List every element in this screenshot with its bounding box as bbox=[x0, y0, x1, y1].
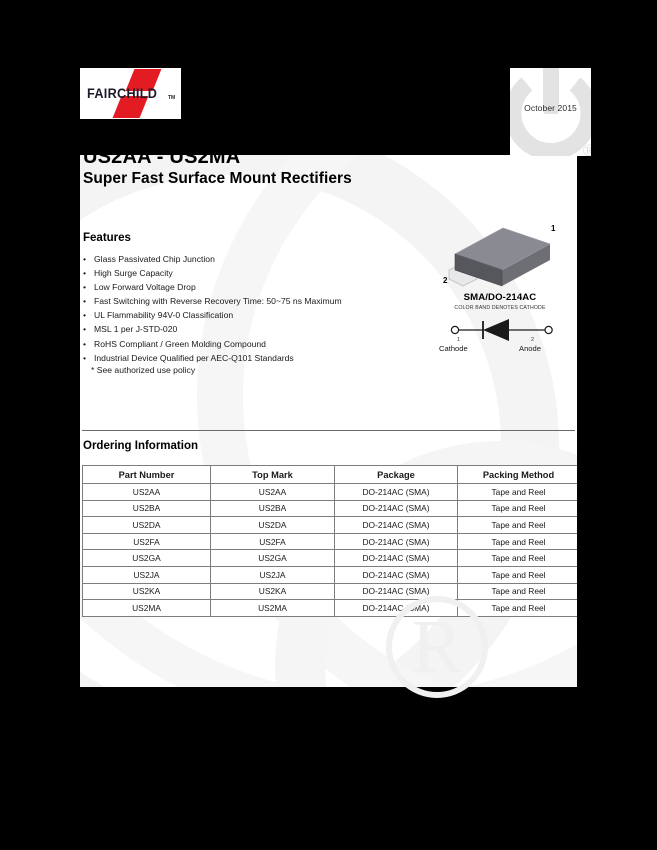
feature-text: Glass Passivated Chip Junction bbox=[94, 254, 215, 264]
cell-package: DO-214AC (SMA) bbox=[335, 583, 458, 600]
cell-packing: Tape and Reel bbox=[458, 533, 578, 550]
page-title: Super Fast Surface Mount Rectifiers bbox=[83, 170, 352, 188]
features-heading: Features bbox=[83, 232, 131, 244]
cell-part-number: US2JA bbox=[83, 566, 211, 583]
sma-package-3d-icon bbox=[425, 224, 575, 292]
diode-pin-2-number: 2 bbox=[531, 337, 534, 343]
cell-package: DO-214AC (SMA) bbox=[335, 533, 458, 550]
date-badge: ® October 2015 bbox=[510, 68, 591, 156]
package-diagram: 1 2 SMA/DO-214AC COLOR BAND DENOTES CATH… bbox=[425, 224, 575, 369]
bullet-icon: • bbox=[83, 252, 86, 266]
bullet-icon: • bbox=[83, 337, 86, 351]
cell-top-mark: US2GA bbox=[211, 550, 335, 567]
column-header-package: Package bbox=[335, 466, 458, 484]
bullet-icon: • bbox=[83, 294, 86, 308]
bullet-icon: • bbox=[83, 308, 86, 322]
bullet-icon: • bbox=[83, 351, 86, 365]
table-row: US2FA US2FA DO-214AC (SMA) Tape and Reel bbox=[83, 533, 578, 550]
cell-packing: Tape and Reel bbox=[458, 583, 578, 600]
column-header-part-number: Part Number bbox=[83, 466, 211, 484]
cell-packing: Tape and Reel bbox=[458, 550, 578, 567]
cell-part-number: US2MA bbox=[83, 600, 211, 617]
table-row: US2BA US2BA DO-214AC (SMA) Tape and Reel bbox=[83, 500, 578, 517]
cell-package: DO-214AC (SMA) bbox=[335, 484, 458, 501]
table-row: US2AA US2AA DO-214AC (SMA) Tape and Reel bbox=[83, 484, 578, 501]
table-row: US2MA US2MA DO-214AC (SMA) Tape and Reel bbox=[83, 600, 578, 617]
table-row: US2JA US2JA DO-214AC (SMA) Tape and Reel bbox=[83, 566, 578, 583]
datasheet-page: US2AA - US2MA Super Fast Surface Mount R… bbox=[80, 146, 577, 687]
list-item: •Industrial Device Qualified per AEC-Q10… bbox=[83, 351, 393, 365]
diode-pin-1-number: 1 bbox=[457, 337, 460, 343]
feature-text: Fast Switching with Reverse Recovery Tim… bbox=[94, 296, 342, 306]
section-divider bbox=[82, 430, 575, 431]
feature-text: MSL 1 per J-STD-020 bbox=[94, 324, 177, 334]
table-row: US2DA US2DA DO-214AC (SMA) Tape and Reel bbox=[83, 517, 578, 534]
logo-wordmark: FAIRCHILD bbox=[87, 86, 157, 101]
cell-top-mark: US2BA bbox=[211, 500, 335, 517]
cell-part-number: US2DA bbox=[83, 517, 211, 534]
features-list: •Glass Passivated Chip Junction •High Su… bbox=[83, 252, 393, 365]
svg-text:®: ® bbox=[583, 141, 591, 156]
diode-symbol-icon bbox=[447, 317, 557, 343]
header-band: FAIRCHILD TM ® October 2015 bbox=[0, 0, 657, 155]
table-row: US2KA US2KA DO-214AC (SMA) Tape and Reel bbox=[83, 583, 578, 600]
logo-trademark-icon: TM bbox=[168, 95, 175, 101]
cell-package: DO-214AC (SMA) bbox=[335, 566, 458, 583]
table-header-row: Part Number Top Mark Package Packing Met… bbox=[83, 466, 578, 484]
feature-text: RoHS Compliant / Green Molding Compound bbox=[94, 339, 266, 349]
cell-package: DO-214AC (SMA) bbox=[335, 517, 458, 534]
feature-text: UL Flammability 94V-0 Classification bbox=[94, 310, 233, 320]
bullet-icon: • bbox=[83, 322, 86, 336]
cell-part-number: US2AA bbox=[83, 484, 211, 501]
cell-packing: Tape and Reel bbox=[458, 566, 578, 583]
feature-text: Industrial Device Qualified per AEC-Q101… bbox=[94, 353, 294, 363]
cell-packing: Tape and Reel bbox=[458, 600, 578, 617]
features-footnote: * See authorized use policy bbox=[91, 365, 195, 375]
package-pin-1-label: 1 bbox=[551, 224, 555, 233]
list-item: •Glass Passivated Chip Junction bbox=[83, 252, 393, 266]
cell-top-mark: US2AA bbox=[211, 484, 335, 501]
package-note: COLOR BAND DENOTES CATHODE bbox=[425, 305, 575, 311]
list-item: •MSL 1 per J-STD-020 bbox=[83, 322, 393, 336]
cell-top-mark: US2JA bbox=[211, 566, 335, 583]
cell-package: DO-214AC (SMA) bbox=[335, 550, 458, 567]
cell-package: DO-214AC (SMA) bbox=[335, 600, 458, 617]
list-item: •RoHS Compliant / Green Molding Compound bbox=[83, 337, 393, 351]
cell-top-mark: US2MA bbox=[211, 600, 335, 617]
cell-packing: Tape and Reel bbox=[458, 484, 578, 501]
list-item: •Low Forward Voltage Drop bbox=[83, 280, 393, 294]
anode-label: Anode bbox=[519, 344, 541, 353]
cell-packing: Tape and Reel bbox=[458, 500, 578, 517]
cell-packing: Tape and Reel bbox=[458, 517, 578, 534]
package-name: SMA/DO-214AC bbox=[425, 292, 575, 303]
list-item: •Fast Switching with Reverse Recovery Ti… bbox=[83, 294, 393, 308]
column-header-packing-method: Packing Method bbox=[458, 466, 578, 484]
column-header-top-mark: Top Mark bbox=[211, 466, 335, 484]
cell-top-mark: US2DA bbox=[211, 517, 335, 534]
cathode-label: Cathode bbox=[439, 344, 468, 353]
cell-top-mark: US2KA bbox=[211, 583, 335, 600]
ordering-information-heading: Ordering Information bbox=[83, 440, 198, 452]
fairchild-logo: FAIRCHILD TM bbox=[80, 68, 181, 119]
cell-part-number: US2FA bbox=[83, 533, 211, 550]
feature-text: High Surge Capacity bbox=[94, 268, 173, 278]
bullet-icon: • bbox=[83, 280, 86, 294]
feature-text: Low Forward Voltage Drop bbox=[94, 282, 196, 292]
list-item: •High Surge Capacity bbox=[83, 266, 393, 280]
cell-part-number: US2GA bbox=[83, 550, 211, 567]
cell-part-number: US2BA bbox=[83, 500, 211, 517]
bullet-icon: • bbox=[83, 266, 86, 280]
cell-part-number: US2KA bbox=[83, 583, 211, 600]
package-pin-2-label: 2 bbox=[443, 276, 447, 285]
cell-package: DO-214AC (SMA) bbox=[335, 500, 458, 517]
document-date: October 2015 bbox=[510, 103, 591, 113]
cell-top-mark: US2FA bbox=[211, 533, 335, 550]
table-row: US2GA US2GA DO-214AC (SMA) Tape and Reel bbox=[83, 550, 578, 567]
ordering-information-table: Part Number Top Mark Package Packing Met… bbox=[82, 465, 577, 617]
list-item: •UL Flammability 94V-0 Classification bbox=[83, 308, 393, 322]
